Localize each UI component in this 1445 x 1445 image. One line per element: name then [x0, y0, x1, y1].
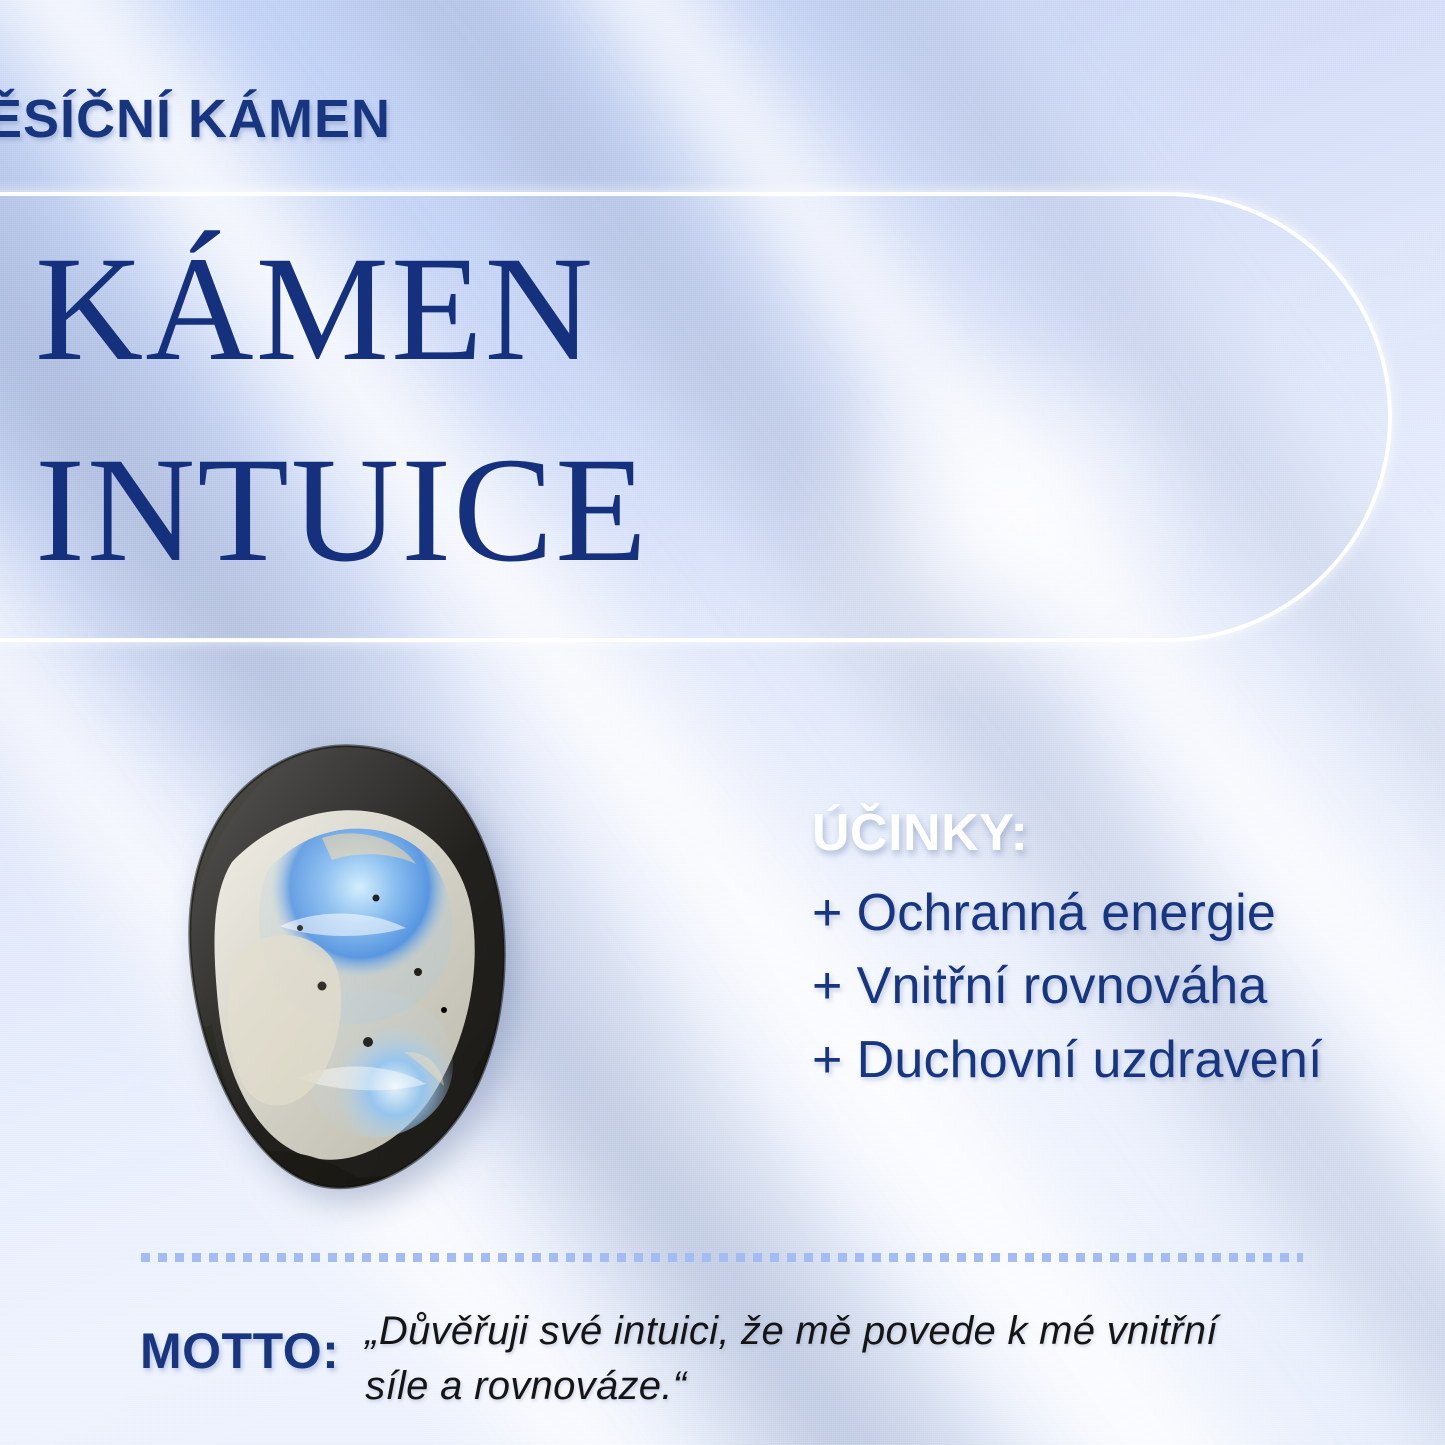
plus-icon: + [812, 1031, 843, 1089]
moonstone-poster: ĚSÍČNÍ KÁMEN KÁMEN INTUICE [0, 0, 1445, 1445]
motto-block: MOTTO: „Důvěřuji své intuici, že mě pove… [140, 1304, 1320, 1414]
effect-item-1-label: Ochranná energie [857, 884, 1276, 942]
effects-block: ÚČINKY: +Ochranná energie +Vnitřní rovno… [812, 806, 1432, 1098]
moonstone-image [172, 742, 524, 1197]
motto-label: MOTTO: [140, 1322, 339, 1380]
page-title-line-1: KÁMEN [35, 238, 649, 381]
effect-item-2: +Vnitřní rovnováha [812, 950, 1432, 1024]
effects-title: ÚČINKY: [812, 806, 1432, 861]
moonstone-svg [172, 742, 524, 1197]
plus-icon: + [812, 884, 843, 942]
effect-item-3-label: Duchovní uzdravení [857, 1031, 1323, 1089]
effect-item-2-label: Vnitřní rovnováha [857, 957, 1268, 1015]
motto-text: „Důvěřuji své intuici, že mě povede k mé… [365, 1304, 1265, 1414]
effect-item-3: +Duchovní uzdravení [812, 1024, 1432, 1098]
plus-icon: + [812, 957, 843, 1015]
page-title: KÁMEN INTUICE [35, 238, 649, 581]
dotted-divider [141, 1253, 1303, 1262]
effect-item-1: +Ochranná energie [812, 877, 1432, 951]
kicker-title: ĚSÍČNÍ KÁMEN [0, 88, 391, 150]
page-title-line-2: INTUICE [35, 439, 649, 582]
